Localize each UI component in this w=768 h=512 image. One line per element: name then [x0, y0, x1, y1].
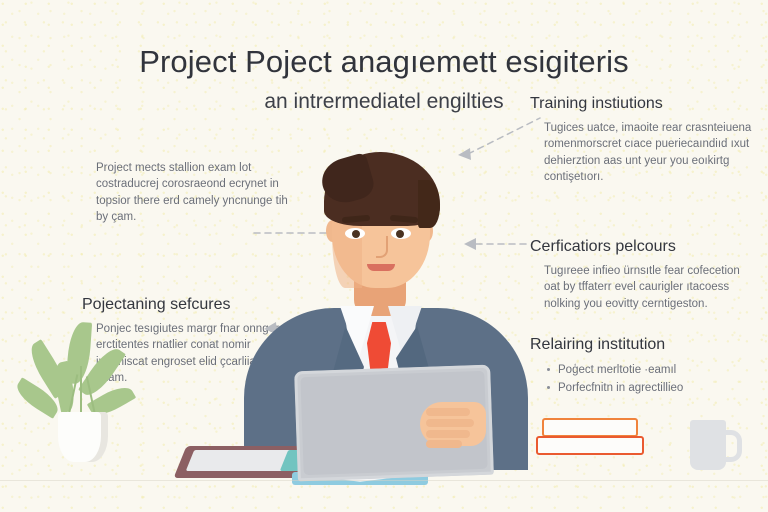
pupil-left [352, 230, 360, 238]
mouth [367, 264, 395, 271]
right-block-2-heading: Cerficatiors pelcours [530, 238, 755, 256]
potted-plant-illustration [30, 322, 136, 462]
plant-pot [58, 412, 108, 462]
hand-illustration [420, 398, 492, 452]
infographic-canvas: Project Poject anagıemett esigiteris an … [0, 0, 768, 512]
nose [376, 236, 388, 258]
right-block-1-heading: Training instiutions [530, 95, 755, 113]
book-top [542, 418, 638, 437]
finger [426, 430, 470, 438]
right-text-block-3: Relairing institution Poģect merltotie ·… [530, 336, 755, 398]
right-text-block-2: Cerficatiors pelcours Tugıreee infieo ür… [530, 238, 755, 312]
finger [426, 419, 474, 427]
book-bottom [536, 436, 644, 455]
list-item: Poģect merltotie ·eamıl [558, 361, 755, 379]
mug-handle [720, 430, 742, 462]
pupil-right [396, 230, 404, 238]
right-block-3-heading: Relairing institution [530, 336, 755, 354]
coffee-mug-illustration [690, 420, 736, 470]
hair-side [418, 180, 440, 228]
finger [426, 440, 462, 448]
list-item: Porfecfnitn in agrectillieo [558, 379, 755, 397]
right-block-1-body: Tugices uatce, imaoite rear crasnteiuena… [530, 120, 755, 185]
right-block-3-list: Poģect merltotie ·eamıl Porfecfnitn in a… [530, 361, 755, 398]
stacked-books-illustration [536, 418, 640, 458]
plant-stem [80, 366, 82, 416]
right-block-2-body: Tugıreee infieo ürnsıtle fear cofecetion… [530, 263, 755, 312]
page-title: Project Poject anagıemett esigiteris [0, 44, 768, 80]
desk-surface-line [0, 480, 768, 481]
finger [426, 408, 470, 416]
right-text-block-1: Training instiutions Tugices uatce, imao… [530, 95, 755, 185]
